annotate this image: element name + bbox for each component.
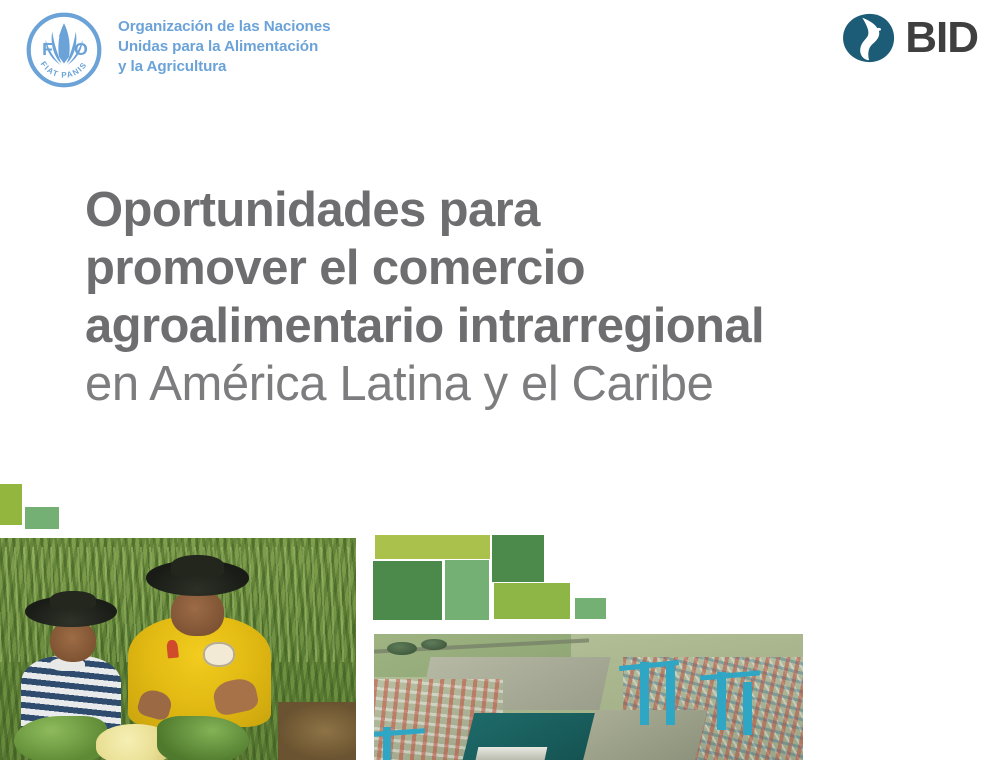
photo-man-face [171, 589, 224, 636]
photo-shirt-graphic [203, 642, 235, 666]
svg-text:O: O [74, 39, 88, 59]
port-crane-4 [743, 682, 752, 735]
port-crane-2 [666, 664, 675, 724]
title-line-2: promover el comercio [85, 240, 975, 298]
svg-text:F: F [42, 39, 53, 59]
corner-green-wide [25, 507, 59, 529]
fao-organization-name: Organización de las Naciones Unidas para… [118, 17, 330, 77]
photo-container-port [374, 634, 803, 760]
photo-farmers-field [0, 538, 356, 760]
title-subtitle: en América Latina y el Caribe [85, 355, 975, 415]
title-line-3: agroalimentario intrarregional [85, 298, 975, 356]
bar-olive-green [494, 583, 570, 619]
title-line-1: Oportunidades para [85, 182, 975, 240]
photo-man-hat-crown [171, 555, 224, 577]
fao-emblem-icon: F A O FIAT PANIS [22, 8, 106, 92]
photo-boy-hat-crown [50, 591, 96, 609]
port-crane-1 [640, 662, 649, 725]
photo-leaf-left [14, 716, 107, 760]
page-title: Oportunidades para promover el comercio … [85, 182, 975, 415]
bid-logo-block: BID [841, 12, 978, 64]
bid-wordmark: BID [905, 16, 978, 60]
port-crane-3 [717, 672, 726, 730]
corner-lime-tall [0, 484, 22, 525]
fao-logo-block: F A O FIAT PANIS Organización de las Nac… [22, 8, 330, 92]
port-storage-tank-1 [387, 642, 417, 656]
port-vessel [476, 747, 547, 760]
bid-globe-icon [841, 12, 899, 64]
square-dark-upper [492, 535, 544, 582]
svg-text:A: A [59, 25, 69, 41]
bar-light-lime [375, 535, 490, 559]
chip-medium-green [575, 598, 606, 619]
square-medium-green [445, 560, 489, 620]
cover-page: F A O FIAT PANIS Organización de las Nac… [0, 0, 1000, 760]
photo-soil [278, 702, 356, 760]
square-dark-green [373, 561, 442, 620]
